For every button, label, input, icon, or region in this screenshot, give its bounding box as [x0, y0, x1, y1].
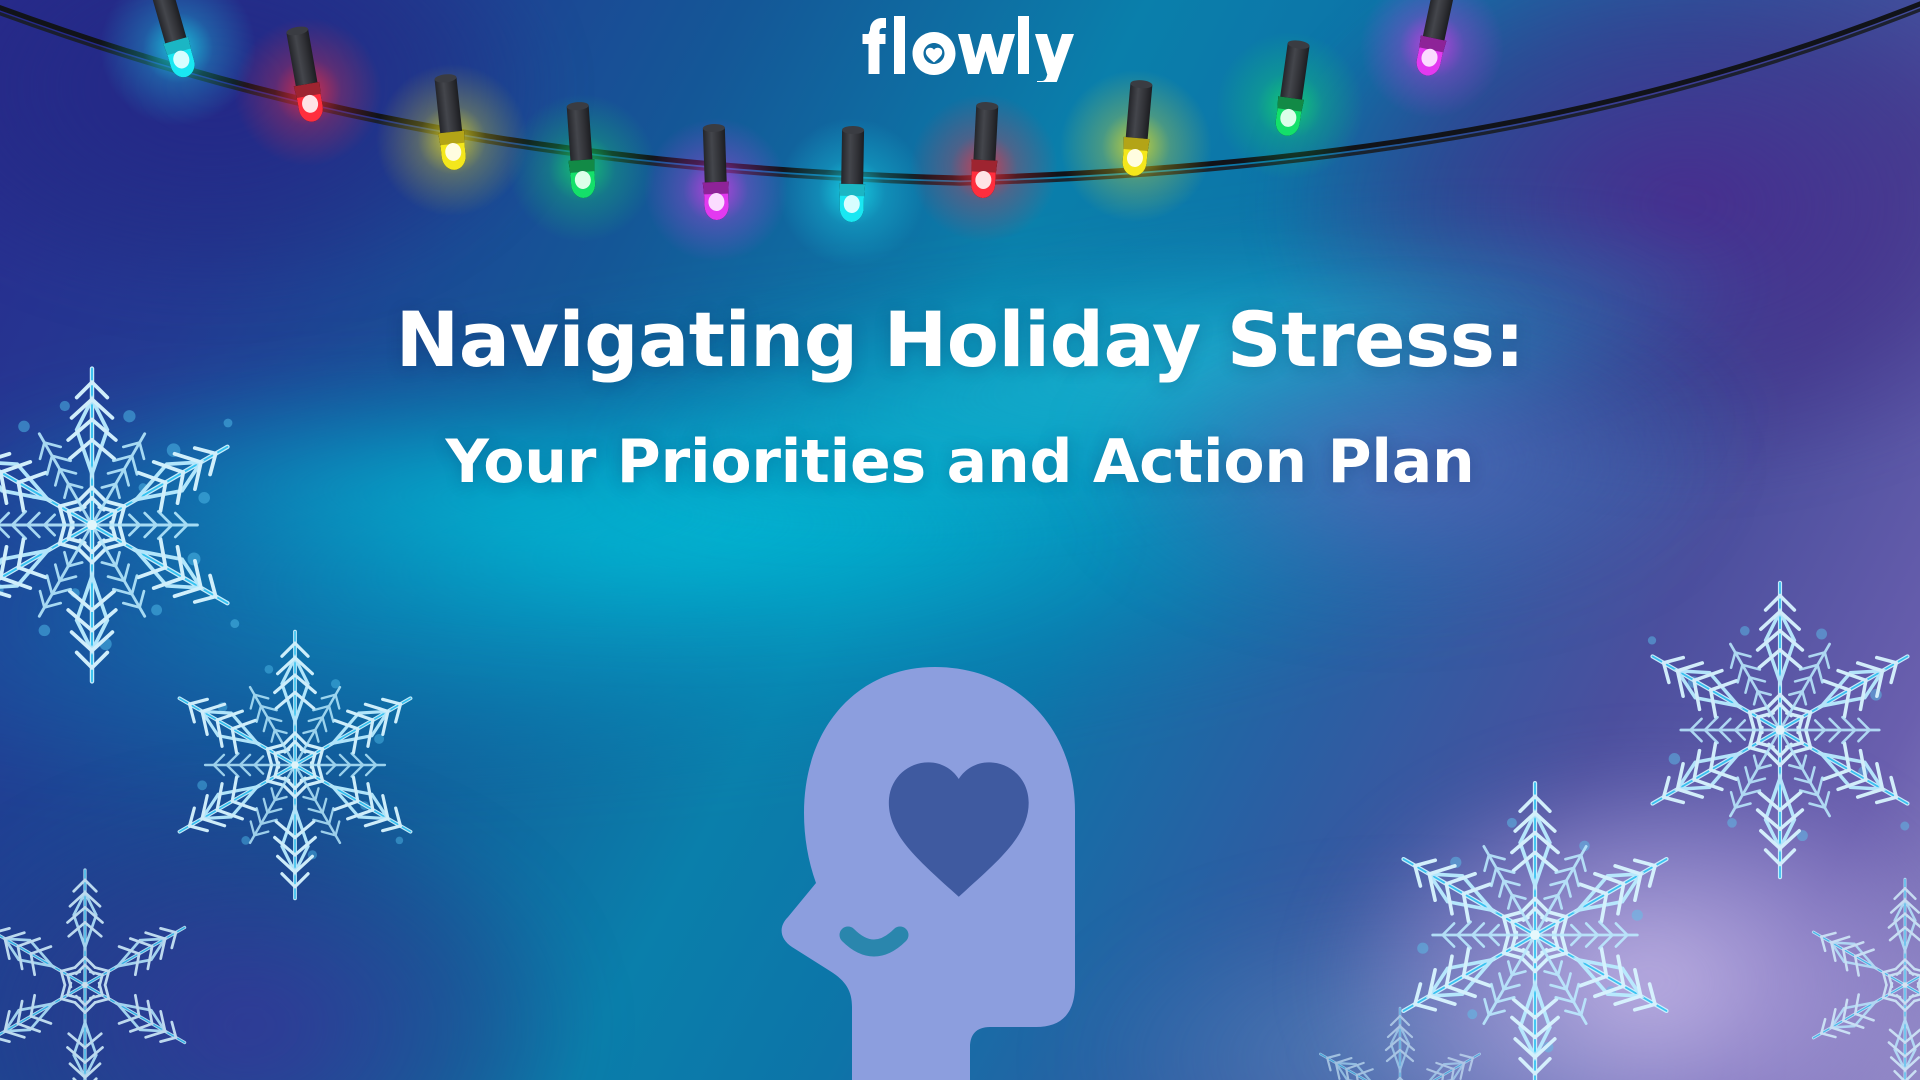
- headline-block: Navigating Holiday Stress: Your Prioriti…: [0, 300, 1920, 494]
- bulb-red: [910, 94, 1058, 242]
- head-with-heart-icon: [730, 655, 1110, 1080]
- head-silhouette: [782, 667, 1075, 1080]
- page-subtitle: Your Priorities and Action Plan: [0, 431, 1920, 494]
- bulb-yellow: [1060, 70, 1212, 222]
- background-glow-lavender: [1190, 691, 1920, 1080]
- bulb-magenta: [644, 118, 788, 262]
- poster-canvas: Navigating Holiday Stress: Your Prioriti…: [0, 0, 1920, 1080]
- bulb-green: [508, 94, 656, 242]
- brand-logo[interactable]: [0, 12, 1920, 82]
- bulb-yellow: [376, 64, 528, 216]
- background-glow-violet-bl: [0, 713, 691, 1080]
- page-title: Navigating Holiday Stress:: [0, 300, 1920, 379]
- bulb-cyan: [778, 118, 926, 266]
